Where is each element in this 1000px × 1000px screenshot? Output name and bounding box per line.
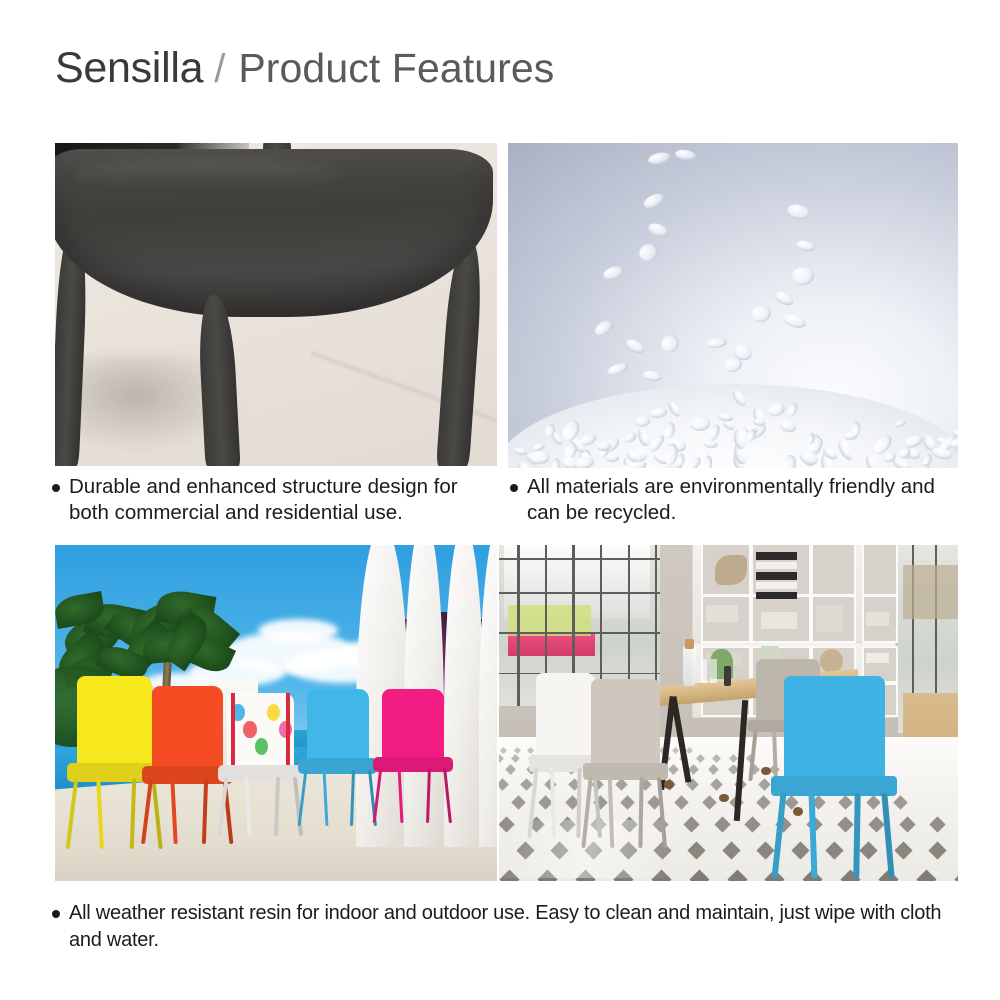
chair-white xyxy=(227,693,293,827)
seat-highlight xyxy=(73,160,341,187)
floor-tile-diamond xyxy=(702,795,716,809)
floor-tile-diamond xyxy=(710,778,723,791)
book xyxy=(756,592,797,599)
book xyxy=(756,562,797,569)
floor-tile-diamond xyxy=(688,841,706,859)
floor-tile-diamond xyxy=(708,764,719,775)
chair-blue xyxy=(307,689,369,817)
floor-tile-diamond xyxy=(689,870,709,881)
photo-chair-seat-closeup xyxy=(55,143,497,466)
floor-tile-diamond xyxy=(899,817,915,833)
caption-weather-resistance: All weather resistant resin for indoor a… xyxy=(52,900,967,954)
brand-name: Sensilla xyxy=(55,44,203,93)
pile-pellet xyxy=(551,459,561,468)
chair-seat xyxy=(373,757,452,772)
floor-tile-diamond xyxy=(506,764,517,775)
greenery-outside xyxy=(508,605,591,635)
window-mullion xyxy=(499,558,660,560)
product-features-page: Sensilla / Product Features Durable and … xyxy=(0,0,1000,1000)
book xyxy=(761,612,798,629)
floor-tile-diamond xyxy=(686,747,693,754)
chair-yellow xyxy=(77,676,152,837)
pile-pellet xyxy=(677,453,685,466)
floor-tile-diamond xyxy=(672,747,679,754)
floor-tile-diamond xyxy=(758,778,771,791)
floor-tile-diamond xyxy=(668,764,679,775)
chair-seat xyxy=(218,765,303,781)
photo-resin-pellets xyxy=(508,143,958,468)
book xyxy=(816,605,844,632)
glass-bottle xyxy=(683,646,697,686)
chair-back xyxy=(307,689,369,763)
floor-tile-diamond xyxy=(745,817,761,833)
interior-chair-blue xyxy=(784,676,885,864)
outside-building xyxy=(903,565,958,619)
floor-tile-diamond xyxy=(527,747,534,754)
book xyxy=(756,552,797,560)
shelf-cell xyxy=(811,545,856,596)
floral-motif xyxy=(255,738,268,755)
chair-seat xyxy=(583,763,668,780)
chair-leg xyxy=(772,730,778,781)
driftwood-decor xyxy=(715,555,747,585)
title-separator: / xyxy=(214,47,225,92)
floor-tile-diamond xyxy=(757,841,775,859)
basket-decor xyxy=(820,649,843,673)
floor-tile-diamond xyxy=(930,817,946,833)
floral-motif xyxy=(243,721,256,738)
floor-tile-diamond xyxy=(520,778,533,791)
floor-tile-diamond xyxy=(511,795,525,809)
window-mullion xyxy=(499,592,660,594)
shelf-cell xyxy=(862,545,898,596)
floor-tile-diamond xyxy=(893,795,907,809)
walnut xyxy=(793,807,803,816)
bullet-icon xyxy=(52,484,60,492)
interior-chair-beige xyxy=(591,679,660,837)
chair-pink xyxy=(382,689,444,813)
floor-tile-diamond xyxy=(916,870,936,881)
floor-tile-diamond xyxy=(499,778,509,791)
chair-back xyxy=(536,673,596,761)
caption-text: Durable and enhanced structure design fo… xyxy=(69,474,502,526)
caption-materials: All materials are environmentally friend… xyxy=(510,474,970,526)
chair-orange xyxy=(152,686,223,834)
floor-tile-diamond xyxy=(675,795,689,809)
book xyxy=(866,612,889,625)
bullet-icon xyxy=(52,910,60,918)
floor-tile-diamond xyxy=(729,754,738,763)
floor-tile-diamond xyxy=(714,817,730,833)
floor-tile-diamond xyxy=(712,754,721,763)
floral-stripe xyxy=(286,693,289,771)
arch-column xyxy=(444,545,484,847)
drink-glass xyxy=(710,659,716,683)
window-mullion xyxy=(517,545,519,706)
caption-text: All weather resistant resin for indoor a… xyxy=(69,900,967,954)
floor-tile-diamond xyxy=(499,754,504,763)
floor-tile-diamond xyxy=(954,870,958,881)
photo-interior-dining xyxy=(499,545,958,881)
floor-tile-diamond xyxy=(757,795,771,809)
chair-back xyxy=(784,676,885,783)
page-subtitle: Product Features xyxy=(238,45,554,92)
floor-tile-diamond xyxy=(696,754,705,763)
chair-seat xyxy=(771,776,896,797)
floor-tile-diamond xyxy=(722,841,740,859)
book xyxy=(706,605,738,622)
chair-back xyxy=(152,686,223,772)
floor-tile-diamond xyxy=(511,754,520,763)
page-title: Sensilla / Product Features xyxy=(55,44,554,93)
chair-back xyxy=(77,676,152,770)
chair-back xyxy=(227,693,293,771)
book xyxy=(756,582,797,589)
book xyxy=(756,572,797,580)
window-mullion xyxy=(499,632,660,634)
floor-tile-diamond xyxy=(688,764,699,775)
chair-back xyxy=(591,679,660,769)
caption-durability: Durable and enhanced structure design fo… xyxy=(52,474,502,526)
pink-awning xyxy=(508,632,595,656)
floral-stripe xyxy=(231,693,234,771)
chair-back xyxy=(382,689,444,761)
pile-pellet xyxy=(606,455,619,462)
bottle-cork xyxy=(685,639,693,649)
floral-motif xyxy=(267,704,280,721)
floor-tile-diamond xyxy=(500,747,507,754)
photo-poolside-chairs xyxy=(55,545,497,881)
pepper-mill xyxy=(724,666,731,686)
drink-glass xyxy=(701,659,707,683)
chair-seat xyxy=(298,758,377,773)
book xyxy=(866,653,889,663)
floor-tile-diamond xyxy=(928,841,946,859)
caption-text: All materials are environmentally friend… xyxy=(527,474,970,526)
bullet-icon xyxy=(510,484,518,492)
floor-tile-diamond xyxy=(727,870,747,881)
floor-tile-diamond xyxy=(894,841,912,859)
pile-pellet xyxy=(704,441,718,449)
pile-pellet xyxy=(851,421,860,435)
chair-leg xyxy=(550,768,556,838)
